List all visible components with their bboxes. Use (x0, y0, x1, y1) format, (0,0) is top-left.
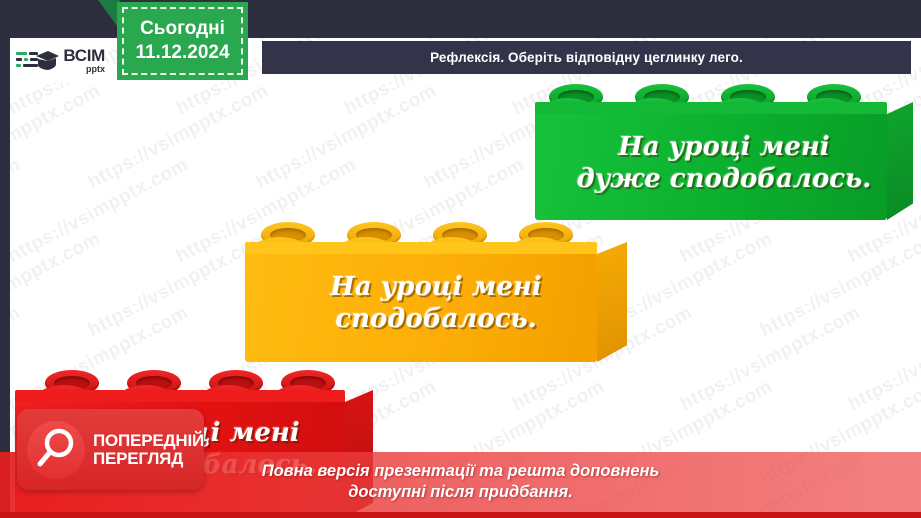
slide-title-bar: Рефлексія. Оберіть відповідну цеглинку л… (262, 41, 911, 74)
date-badge-value: 11.12.2024 (135, 41, 229, 65)
watermark-text: https://vsimpptx.com (10, 80, 104, 194)
lego-brick-yellow[interactable]: На уроці мені сподобалось. (245, 222, 627, 362)
preview-badge[interactable]: ПОПЕРЕДНІЙ ПЕРЕГЛЯД (17, 409, 204, 490)
watermark-text: https://vsimpptx.com (757, 228, 921, 342)
lego-brick-green[interactable]: На уроці мені дуже сподобалось. (535, 84, 913, 220)
promo-line2: доступні після придбання. (348, 482, 573, 503)
left-dark-strip (0, 0, 10, 518)
graduation-cap-icon (34, 48, 60, 74)
watermark-text: https://vsimpptx.com (253, 80, 441, 194)
preview-line2: ПЕРЕГЛЯД (93, 450, 204, 467)
yellow-brick-bevel (597, 242, 627, 362)
green-brick-bevel (887, 102, 913, 220)
preview-line1: ПОПЕРЕДНІЙ (93, 432, 204, 449)
logo-text-sub: pptx (63, 65, 105, 74)
yellow-brick-face (245, 254, 597, 362)
preview-badge-text: ПОПЕРЕДНІЙ ПЕРЕГЛЯД (93, 432, 204, 467)
speed-lines-icon (16, 48, 33, 74)
today-date-badge: Сьогодні 11.12.2024 (117, 2, 248, 80)
watermark-text: https://vsimpptx.com (85, 80, 273, 194)
brand-logo: ВСІМ pptx (10, 38, 105, 83)
promo-line1: Повна версія презентації та решта доповн… (262, 461, 660, 482)
watermark-text: https://vsimpptx.com (10, 154, 24, 268)
brand-wordmark: ВСІМ pptx (63, 47, 105, 74)
promo-footer-strip (0, 512, 921, 518)
watermark-text: https://vsimpptx.com (845, 302, 921, 416)
logo-text-main: ВСІМ (63, 47, 105, 64)
slide-title: Рефлексія. Оберіть відповідну цеглинку л… (430, 50, 743, 65)
watermark-text: https://vsimpptx.com (677, 302, 865, 416)
watermark-text: https://vsimpptx.com (10, 154, 192, 268)
slide-stage: https://vsimpptx.comhttps://vsimpptx.com… (0, 0, 921, 518)
date-badge-label: Сьогодні (140, 17, 225, 41)
green-brick-face (535, 114, 887, 220)
watermark-text: https://vsimpptx.com (10, 228, 104, 342)
magnifier-icon (27, 421, 85, 479)
